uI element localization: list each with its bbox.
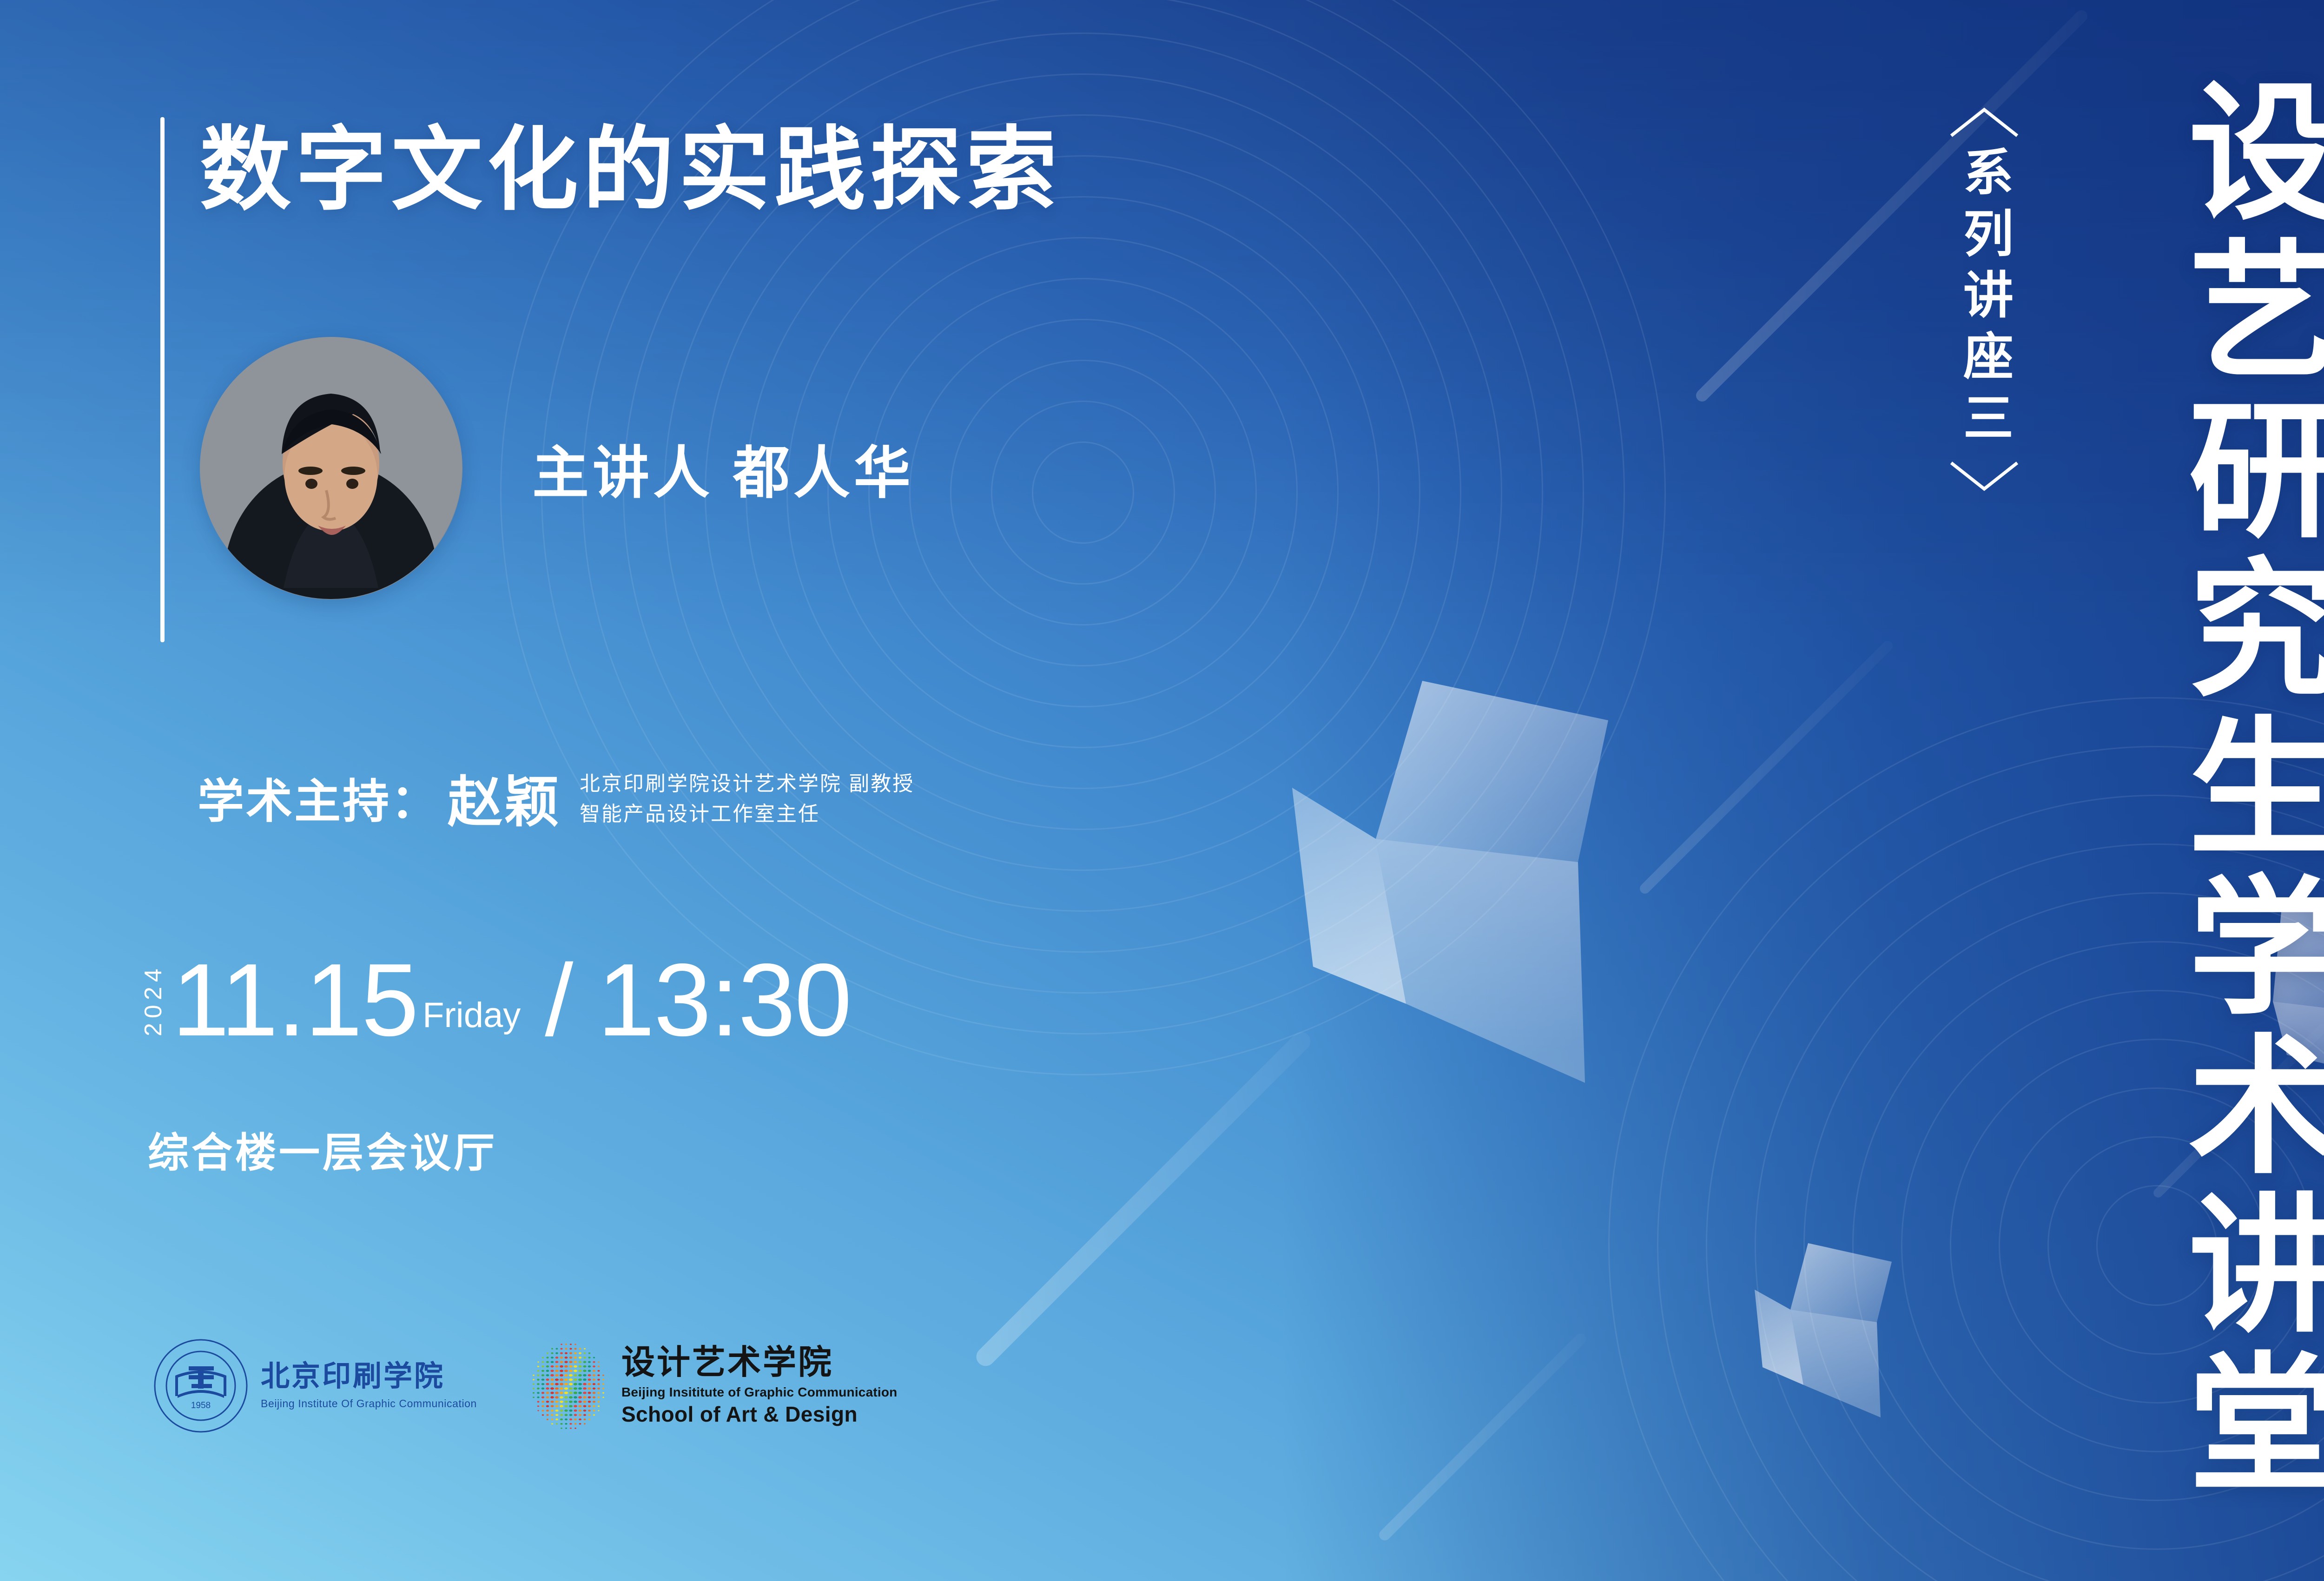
speaker-portrait-icon [200, 337, 462, 599]
host-name: 赵颖 [448, 758, 561, 837]
poster-canvas: 数字文化的实践探索 [0, 0, 2324, 1581]
schedule-row: 2024 11.15 Friday / 13:30 [139, 936, 851, 1046]
logo-school-of-art-design: 设计艺术学院 Beijing Insititute of Graphic Com… [528, 1340, 898, 1432]
series-tag: 系列讲座三 [1859, 107, 2110, 492]
host-affiliation-line-1: 北京印刷学院设计艺术学院 副教授 [580, 772, 914, 796]
event-weekday: Friday [423, 995, 521, 1035]
event-date: 11.15 [172, 955, 418, 1046]
series-tag-label: 系列讲座三 [1959, 146, 2009, 453]
page-title: 数字文化的实践探索 [200, 125, 1062, 216]
host-affiliation: 北京印刷学院设计艺术学院 副教授 智能产品设计工作室主任 [580, 769, 914, 826]
logo-strip: 1958 北京印刷学院 Beijing Institute Of Graphic… [153, 1338, 897, 1434]
bigc-name-cn: 北京印刷学院 [261, 1362, 477, 1391]
host-label: 学术主持： [198, 764, 439, 831]
decor-cube-small [1752, 1241, 1948, 1441]
chevron-up-icon [1949, 107, 2019, 138]
halftone-sphere-icon [528, 1340, 609, 1432]
host-row: 学术主持： 赵颖 北京印刷学院设计艺术学院 副教授 智能产品设计工作室主任 [198, 758, 914, 837]
schedule-separator: / [545, 955, 573, 1046]
speaker-name: 主讲人 都人华 [532, 427, 914, 509]
event-time: 13:30 [597, 955, 851, 1046]
event-venue: 综合楼一层会议厅 [148, 1120, 497, 1179]
event-year: 2024 [139, 936, 167, 1036]
speaker-row: 主讲人 都人华 [200, 337, 914, 599]
bigc-logo-text: 北京印刷学院 Beijing Institute Of Graphic Comm… [261, 1362, 477, 1410]
bigc-name-en: Beijing Institute Of Graphic Communicati… [261, 1397, 477, 1410]
host-affiliation-line-2: 智能产品设计工作室主任 [580, 803, 914, 826]
school-name-en-line-2: School of Art & Design [621, 1402, 898, 1427]
chevron-down-icon [1949, 461, 2019, 492]
bigc-seal-year: 1958 [191, 1401, 211, 1410]
school-name-cn: 设计艺术学院 [621, 1346, 898, 1379]
series-vertical-title: 设艺研究生学术讲堂 [2174, 74, 2324, 1505]
logo-bigc: 1958 北京印刷学院 Beijing Institute Of Graphic… [153, 1338, 477, 1434]
decor-cube-large [1287, 679, 1752, 1148]
bigc-seal-icon: 1958 [153, 1338, 249, 1434]
school-logo-text: 设计艺术学院 Beijing Insititute of Graphic Com… [621, 1346, 898, 1427]
school-name-en-line-1: Beijing Insititute of Graphic Communicat… [621, 1385, 898, 1400]
title-accent-line [160, 117, 165, 642]
avatar [200, 337, 462, 599]
